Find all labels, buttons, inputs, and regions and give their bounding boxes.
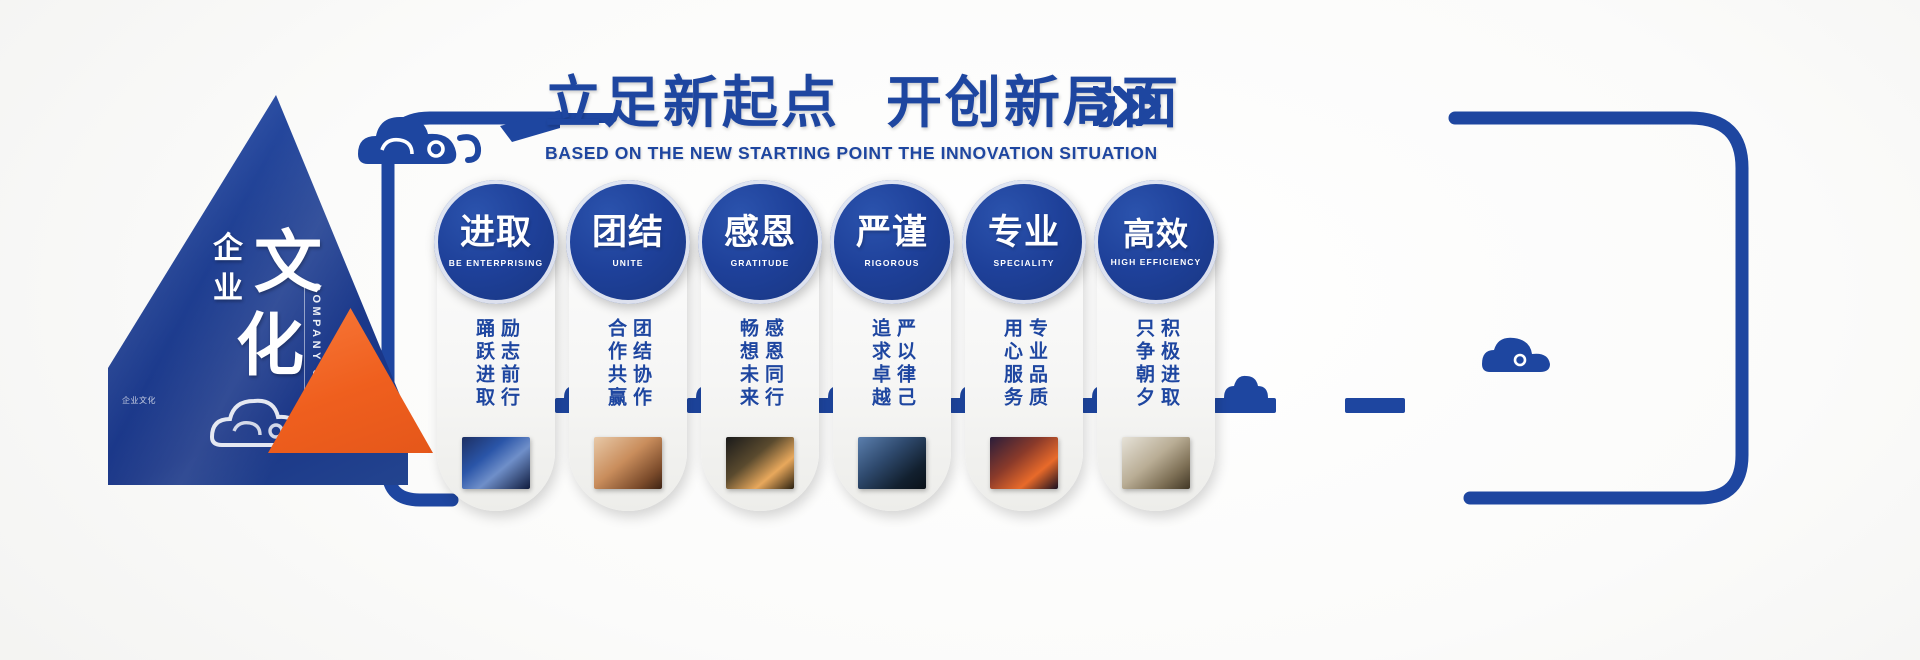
pill-card-4[interactable]: 严谨 RIGOROUS 严以律己 追求卓越 xyxy=(833,196,951,511)
pill-motto-5: 专业品质 用心服务 xyxy=(1002,318,1046,410)
pill-title-1: 进取 xyxy=(460,216,532,251)
pill-subtitle-3: GRATITUDE xyxy=(731,258,790,268)
pill-motto-right-2: 团结协作 xyxy=(631,318,650,410)
value-pill-row: 进取 BE ENTERPRISING 励志前行 踊跃进取 团结 UNITE 团结… xyxy=(0,0,1920,660)
pill-motto-6: 积极进取 只争朝夕 xyxy=(1134,318,1178,410)
pill-motto-left-1: 踊跃进取 xyxy=(474,318,493,410)
pill-photo-3 xyxy=(726,437,794,489)
pill-photo-1 xyxy=(462,437,530,489)
pill-photo-6 xyxy=(1122,437,1190,489)
pill-title-5: 专业 xyxy=(988,216,1060,251)
pill-subtitle-6: HIGH EFFICIENCY xyxy=(1111,257,1202,267)
pill-motto-left-4: 追求卓越 xyxy=(870,318,889,410)
pill-badge-4[interactable]: 严谨 RIGOROUS xyxy=(830,180,954,304)
pill-badge-1[interactable]: 进取 BE ENTERPRISING xyxy=(434,180,558,304)
pill-title-6: 高效 xyxy=(1123,218,1189,250)
pill-card-5[interactable]: 专业 SPECIALITY 专业品质 用心服务 xyxy=(965,196,1083,511)
pill-title-2: 团结 xyxy=(592,216,664,251)
pill-title-4: 严谨 xyxy=(856,216,928,251)
pill-motto-left-3: 畅想未来 xyxy=(738,318,757,410)
pill-motto-left-5: 用心服务 xyxy=(1002,318,1021,410)
pill-motto-left-6: 只争朝夕 xyxy=(1134,318,1153,410)
pill-card-3[interactable]: 感恩 GRATITUDE 感恩同行 畅想未来 xyxy=(701,196,819,511)
culture-wall-canvas: 企 业 文 化 COMPANY CULTURE 企业文化 立足新起点 开创新局面… xyxy=(0,0,1920,660)
pill-title-3: 感恩 xyxy=(724,216,796,251)
pill-photo-2 xyxy=(594,437,662,489)
pill-subtitle-1: BE ENTERPRISING xyxy=(449,258,543,268)
pill-badge-3[interactable]: 感恩 GRATITUDE xyxy=(698,180,822,304)
pill-badge-5[interactable]: 专业 SPECIALITY xyxy=(962,180,1086,304)
pill-subtitle-4: RIGOROUS xyxy=(864,258,919,268)
pill-motto-right-5: 专业品质 xyxy=(1027,318,1046,410)
pill-motto-left-2: 合作共赢 xyxy=(606,318,625,410)
pill-motto-2: 团结协作 合作共赢 xyxy=(606,318,650,410)
pill-subtitle-2: UNITE xyxy=(613,258,644,268)
pill-motto-4: 严以律己 追求卓越 xyxy=(870,318,914,410)
pill-card-2[interactable]: 团结 UNITE 团结协作 合作共赢 xyxy=(569,196,687,511)
pill-photo-4 xyxy=(858,437,926,489)
pill-motto-3: 感恩同行 畅想未来 xyxy=(738,318,782,410)
pill-motto-right-3: 感恩同行 xyxy=(763,318,782,410)
pill-card-1[interactable]: 进取 BE ENTERPRISING 励志前行 踊跃进取 xyxy=(437,196,555,511)
pill-badge-2[interactable]: 团结 UNITE xyxy=(566,180,690,304)
pill-motto-right-6: 积极进取 xyxy=(1159,318,1178,410)
pill-motto-right-4: 严以律己 xyxy=(895,318,914,410)
pill-photo-5 xyxy=(990,437,1058,489)
pill-motto-1: 励志前行 踊跃进取 xyxy=(474,318,518,410)
pill-subtitle-5: SPECIALITY xyxy=(993,258,1054,268)
pill-motto-right-1: 励志前行 xyxy=(499,318,518,410)
pill-card-6[interactable]: 高效 HIGH EFFICIENCY 积极进取 只争朝夕 xyxy=(1097,196,1215,511)
pill-badge-6[interactable]: 高效 HIGH EFFICIENCY xyxy=(1094,180,1218,304)
